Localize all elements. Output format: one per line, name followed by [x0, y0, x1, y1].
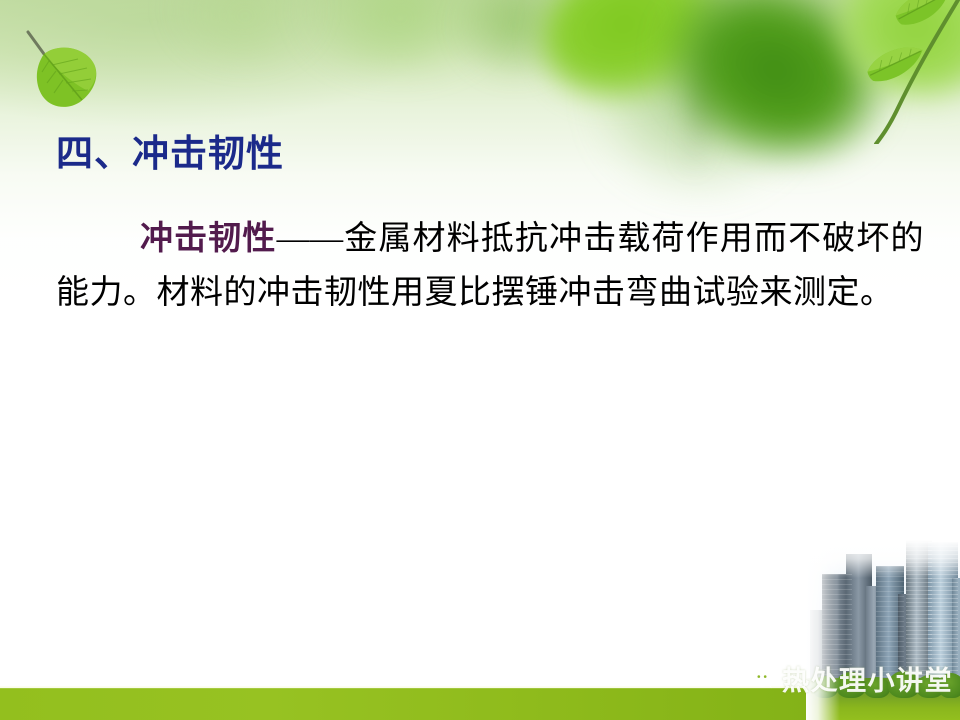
- photo-top-fade: [806, 540, 960, 578]
- highlighted-term: 冲击韧性: [140, 221, 277, 257]
- watermark-label: 热处理小讲堂: [782, 659, 953, 698]
- slide-canvas: 四、冲击韧性 冲击韧性——金属材料抵抗冲击载荷作用而不破坏的能力。材料的冲击韧性…: [0, 0, 960, 720]
- leaf-icon: [8, 14, 118, 129]
- slide-title: 四、冲击韧性: [56, 131, 284, 177]
- watermark: 热处理小讲堂: [737, 659, 953, 698]
- vine-branch-icon: [840, 0, 960, 149]
- wechat-icon: [737, 661, 775, 696]
- slide-body-paragraph: 冲击韧性——金属材料抵抗冲击载荷作用而不破坏的能力。材料的冲击韧性用夏比摆锤冲击…: [56, 212, 924, 320]
